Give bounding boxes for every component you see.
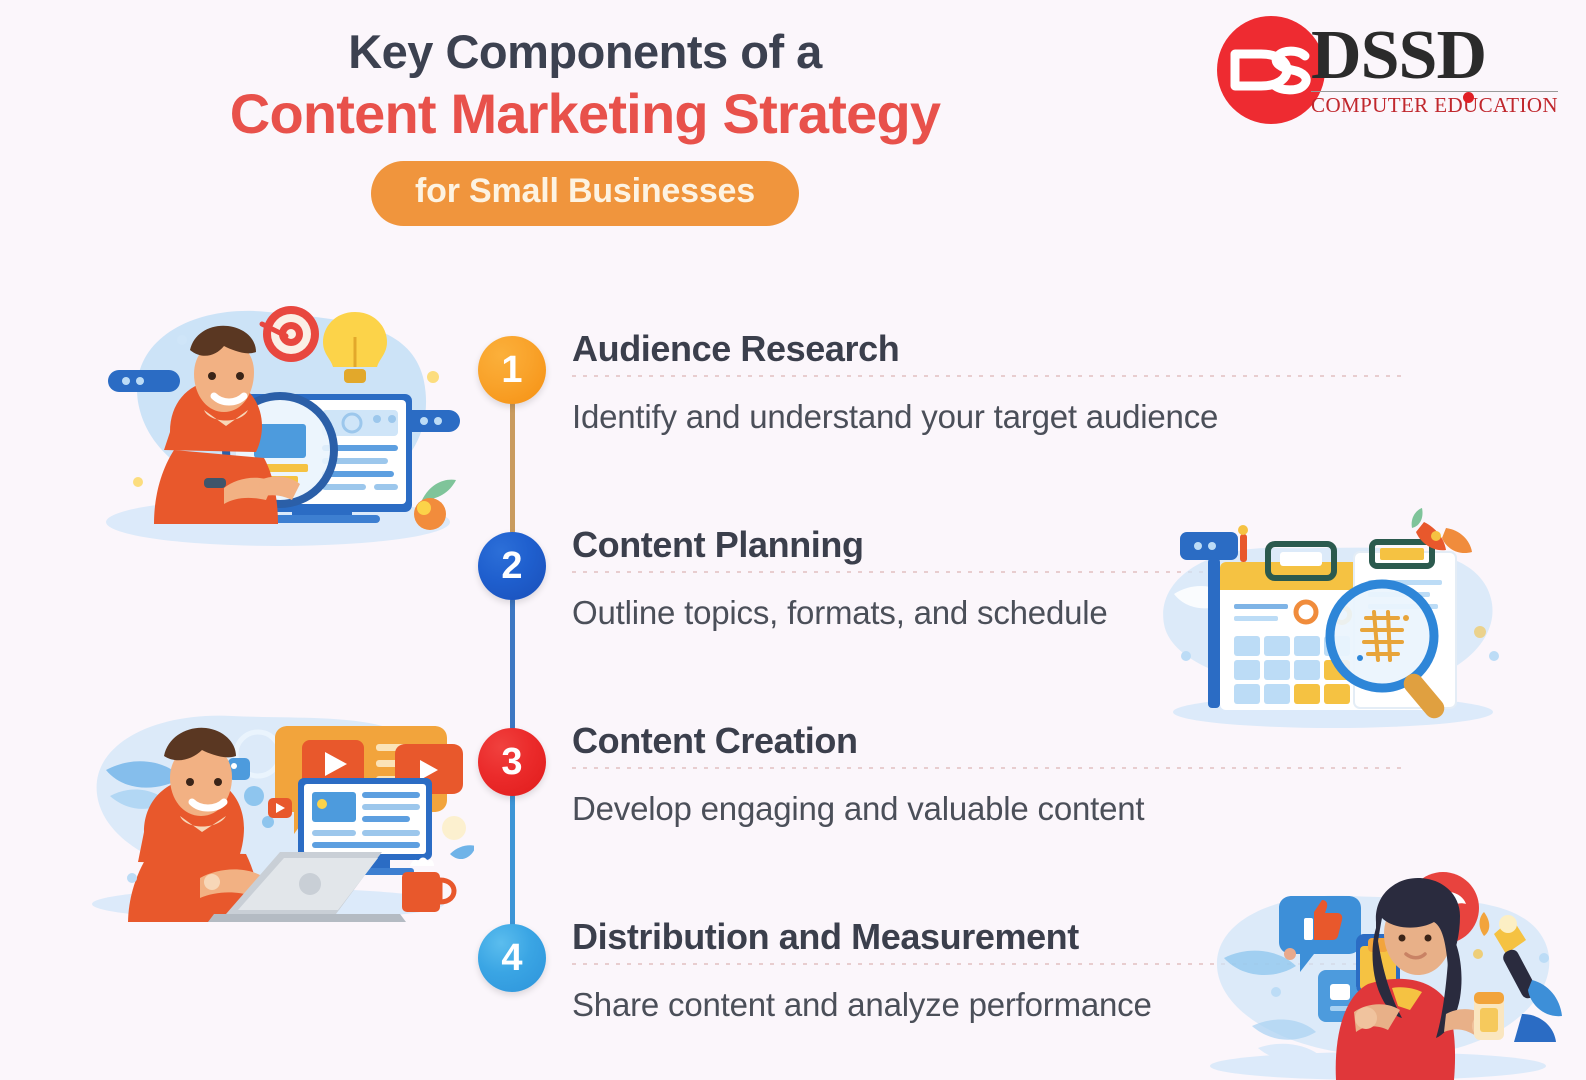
step-description-1: Identify and understand your target audi… bbox=[572, 398, 1402, 436]
connector-2-3 bbox=[510, 598, 515, 730]
logo-wordmark: DSSD bbox=[1311, 22, 1558, 89]
logo-mark bbox=[1217, 16, 1325, 124]
ds-monogram-icon bbox=[1217, 16, 1325, 124]
connector-1-2 bbox=[510, 400, 515, 534]
step-number-3: 3 bbox=[478, 728, 546, 796]
step-divider-1 bbox=[572, 375, 1402, 377]
step-description-3: Develop engaging and valuable content bbox=[572, 790, 1402, 828]
logo-wordmark-block: DSSD COMPUTER EDUCATION bbox=[1311, 22, 1558, 117]
subtitle-pill: for Small Businesses bbox=[371, 161, 799, 226]
audience-research-illustration bbox=[78, 282, 470, 550]
subtitle-pill-wrap: for Small Businesses bbox=[0, 161, 1170, 226]
step-item-1: Audience Research Identify and understan… bbox=[572, 330, 1402, 436]
content-creation-illustration bbox=[62, 682, 474, 922]
distribution-measurement-illustration bbox=[1178, 862, 1578, 1080]
step-divider-3 bbox=[572, 767, 1402, 769]
step-number-4: 4 bbox=[478, 924, 546, 992]
logo-tagline: COMPUTER EDUCATION bbox=[1311, 91, 1558, 118]
step-number-1: 1 bbox=[478, 336, 546, 404]
header-block: Key Components of a Content Marketing St… bbox=[0, 26, 1170, 226]
connector-3-4 bbox=[510, 794, 515, 928]
step-title-1: Audience Research bbox=[572, 330, 1402, 368]
steps-timeline: 1 2 3 4 bbox=[478, 336, 548, 1000]
brand-logo: DSSD COMPUTER EDUCATION bbox=[1217, 16, 1558, 124]
page-title-line1: Key Components of a bbox=[0, 26, 1170, 79]
content-planning-illustration bbox=[1128, 506, 1520, 728]
infographic-canvas: Key Components of a Content Marketing St… bbox=[0, 0, 1586, 1080]
step-number-2: 2 bbox=[478, 532, 546, 600]
page-title-line2: Content Marketing Strategy bbox=[0, 83, 1170, 146]
step-item-3: Content Creation Develop engaging and va… bbox=[572, 722, 1402, 828]
